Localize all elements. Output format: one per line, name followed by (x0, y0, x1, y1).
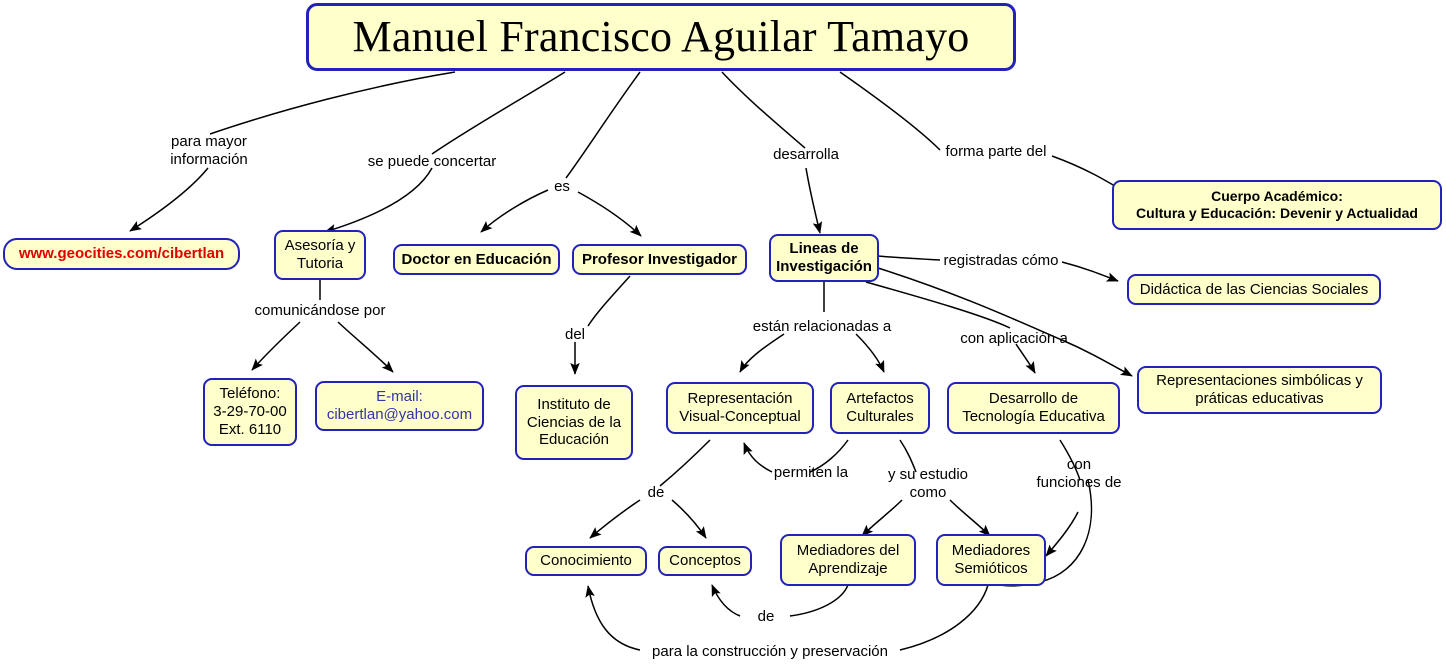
edge-label-forma-parte-del: forma parte del (946, 143, 1047, 161)
node-conceptos[interactable]: Conceptos (658, 546, 752, 576)
node-cuerpo-academico[interactable]: Cuerpo Académico: Cultura y Educación: D… (1112, 180, 1442, 230)
edge-label-con-aplicacion-a: con aplicación a (960, 330, 1068, 348)
node-profesor-investigador[interactable]: Profesor Investigador (572, 244, 747, 275)
node-mediadores-semioticos[interactable]: Mediadores Semióticos (936, 534, 1046, 586)
node-artefactos-culturales[interactable]: Artefactos Culturales (830, 382, 930, 434)
edge-label-para-mayor-informacion: para mayor información (170, 133, 248, 168)
node-root[interactable]: Manuel Francisco Aguilar Tamayo (306, 3, 1016, 71)
edge-label-permiten-la: permiten la (774, 464, 848, 482)
edge-label-es: es (554, 178, 570, 196)
edge-label-comunicandose-por: comunicándose por (255, 302, 386, 320)
node-email[interactable]: E-mail: cibertlan@yahoo.com (315, 381, 484, 431)
edge-label-se-puede-concertar: se puede concertar (368, 153, 496, 171)
node-didactica-ciencias-sociales[interactable]: Didáctica de las Ciencias Sociales (1127, 274, 1381, 305)
node-desarrollo-tecnologia-educativa[interactable]: Desarrollo de Tecnología Educativa (947, 382, 1120, 434)
edge-label-del: del (565, 326, 585, 344)
node-representacion-visual-conceptual[interactable]: Representación Visual-Conceptual (666, 382, 814, 434)
node-mediadores-aprendizaje[interactable]: Mediadores del Aprendizaje (780, 534, 916, 586)
node-representaciones-simbolicas[interactable]: Representaciones simbólicas y práticas e… (1137, 366, 1382, 414)
edge-label-de-mediadores: de (758, 608, 775, 626)
node-doctor-educacion[interactable]: Doctor en Educación (393, 244, 560, 275)
edge-label-estan-relacionadas-a: están relacionadas a (753, 318, 891, 336)
node-conocimiento[interactable]: Conocimiento (525, 546, 647, 576)
edge-label-para-la-construccion: para la construcción y preservación (652, 643, 888, 661)
edge-label-y-su-estudio-como: y su estudio como (888, 466, 968, 501)
node-asesoria-tutoria[interactable]: Asesoría y Tutoria (274, 230, 366, 280)
node-telefono[interactable]: Teléfono: 3-29-70-00 Ext. 6110 (203, 378, 297, 446)
node-website-url[interactable]: www.geocities.com/cibertlan (3, 238, 240, 270)
node-lineas-investigacion[interactable]: Lineas de Investigación (769, 234, 879, 282)
edge-label-con-funciones-de: con funciones de (1036, 456, 1121, 491)
edge-label-registradas-como: registradas cómo (943, 252, 1058, 270)
node-instituto-ciencias-educacion[interactable]: Instituto de Ciencias de la Educación (515, 385, 633, 460)
concept-map-canvas: Manuel Francisco Aguilar Tamayo www.geoc… (0, 0, 1446, 664)
edge-label-de-representacion: de (648, 484, 665, 502)
edge-label-desarrolla: desarrolla (773, 146, 839, 164)
